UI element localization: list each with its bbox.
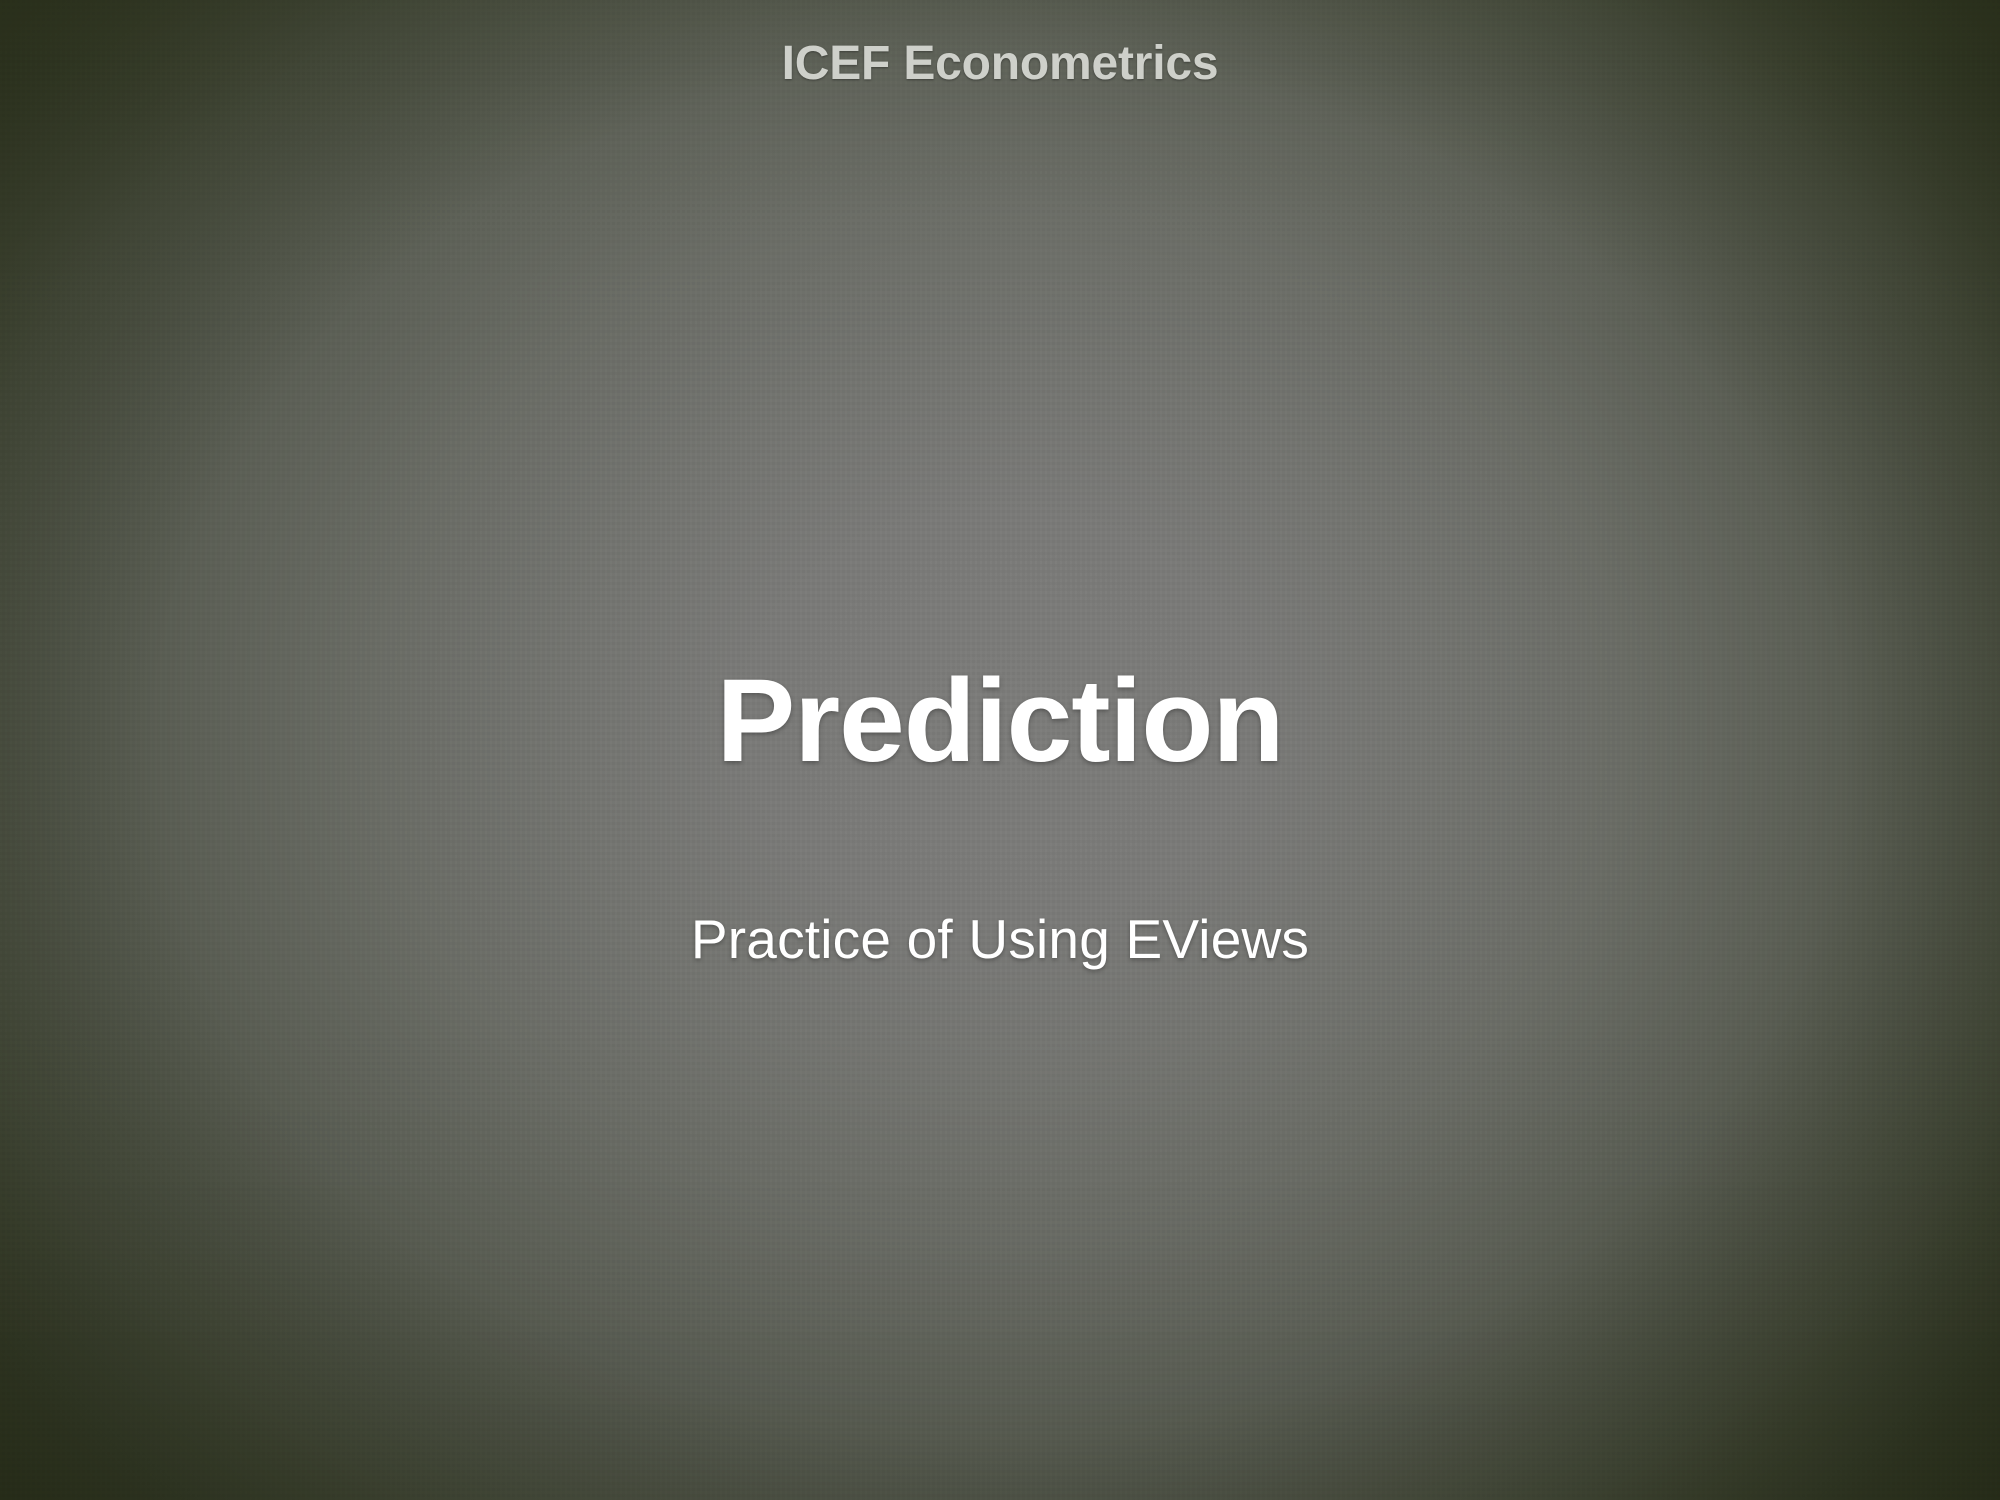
slide-header-course-name: ICEF Econometrics (0, 36, 2000, 91)
slide-content: ICEF Econometrics Prediction Practice of… (0, 0, 2000, 1500)
slide-subtitle: Practice of Using EViews (0, 906, 2000, 972)
title-block: Prediction (0, 660, 2000, 784)
slide-title: Prediction (0, 660, 2000, 784)
presentation-slide: ICEF Econometrics Prediction Practice of… (0, 0, 2000, 1500)
